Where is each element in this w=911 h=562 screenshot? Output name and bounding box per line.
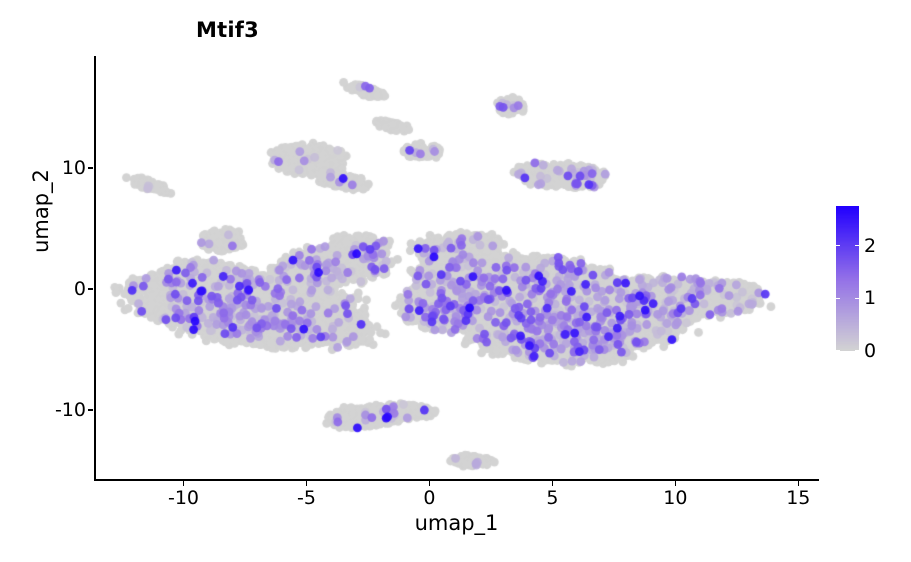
y-tick-label: 10: [62, 157, 86, 179]
colorbar-tick-mark: [855, 298, 859, 300]
colorbar-gradient-strip: [836, 206, 859, 351]
x-axis-label: umap_1: [95, 511, 818, 535]
colorbar-tick-label: 0: [864, 340, 876, 362]
x-tick-label: 0: [423, 487, 435, 509]
colorbar-tick-mark: [836, 350, 840, 352]
x-tick-label: 10: [663, 487, 687, 509]
colorbar-tick-mark: [855, 245, 859, 247]
plot-axes-area: [95, 57, 818, 480]
x-tick-label: 15: [786, 487, 810, 509]
x-tick-mark: [675, 481, 677, 486]
x-tick-label: -5: [297, 487, 316, 509]
x-tick-label: 5: [546, 487, 558, 509]
x-axis-spine: [94, 479, 819, 481]
x-tick-mark: [429, 481, 431, 486]
y-tick-mark: [88, 167, 93, 169]
page-title: Mtif3: [0, 18, 911, 42]
y-axis-spine: [94, 56, 96, 481]
y-tick-mark: [88, 409, 93, 411]
scatter-points-canvas: [95, 57, 818, 480]
y-tick-label: -10: [55, 399, 86, 421]
umap-feature-plot-figure: Mtif3 -10-5051015 -10010 umap_1 umap_2 0…: [0, 0, 911, 562]
x-tick-mark: [306, 481, 308, 486]
colorbar-tick-mark: [836, 298, 840, 300]
colorbar-tick-label: 1: [864, 287, 876, 309]
colorbar-tick-label: 2: [864, 235, 876, 257]
colorbar-tick-mark: [836, 245, 840, 247]
x-tick-label: -10: [168, 487, 199, 509]
colorbar-tick-mark: [855, 350, 859, 352]
x-tick-mark: [552, 481, 554, 486]
y-tick-label: 0: [74, 278, 86, 300]
colorbar: [836, 206, 859, 351]
y-tick-mark: [88, 288, 93, 290]
x-tick-mark: [183, 481, 185, 486]
y-axis-label: umap_2: [29, 141, 53, 281]
x-tick-mark: [798, 481, 800, 486]
